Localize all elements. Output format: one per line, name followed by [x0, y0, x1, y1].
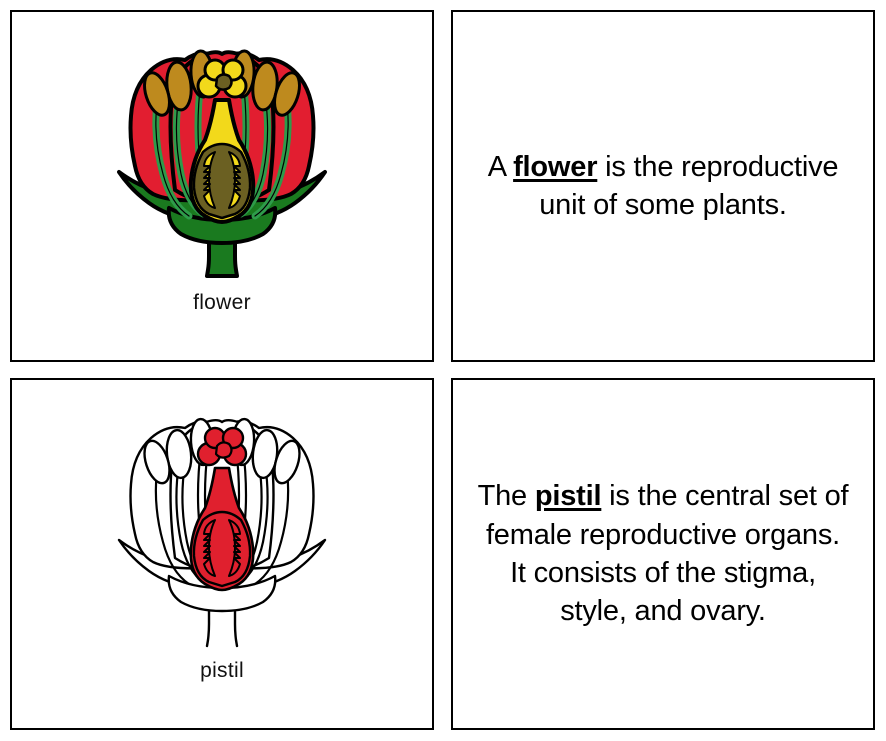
pistil-picture-card[interactable]: pistil [10, 378, 434, 730]
flower-definition-text: A flower is the reproductive unit of som… [477, 148, 849, 225]
flower-cross-section-diagram [57, 22, 387, 287]
pistil-definition-text: The pistil is the central set of female … [477, 477, 849, 630]
nomenclature-card-sheet: flower A flower is the reproductive unit… [0, 0, 886, 741]
stigma-center-highlight [216, 442, 232, 457]
stigma-center [216, 74, 232, 89]
pistil-definition-card[interactable]: The pistil is the central set of female … [451, 378, 875, 730]
flower-definition-card[interactable]: A flower is the reproductive unit of som… [451, 10, 875, 362]
flower-card-body: flower [12, 12, 432, 360]
pistil-card-body: pistil [12, 380, 432, 728]
flower-card-label: flower [193, 291, 251, 315]
flower-picture-card[interactable]: flower [10, 10, 434, 362]
definition-prefix: A [488, 151, 513, 183]
flower-definition-body: A flower is the reproductive unit of som… [453, 12, 873, 360]
pistil-card-label: pistil [200, 659, 244, 683]
definition-term: pistil [535, 480, 601, 512]
pistil-highlighted-flower-diagram [57, 390, 387, 655]
pistil-definition-body: The pistil is the central set of female … [453, 380, 873, 728]
ovary-interior [194, 144, 250, 218]
definition-prefix: The [478, 480, 535, 512]
definition-term: flower [513, 151, 597, 183]
